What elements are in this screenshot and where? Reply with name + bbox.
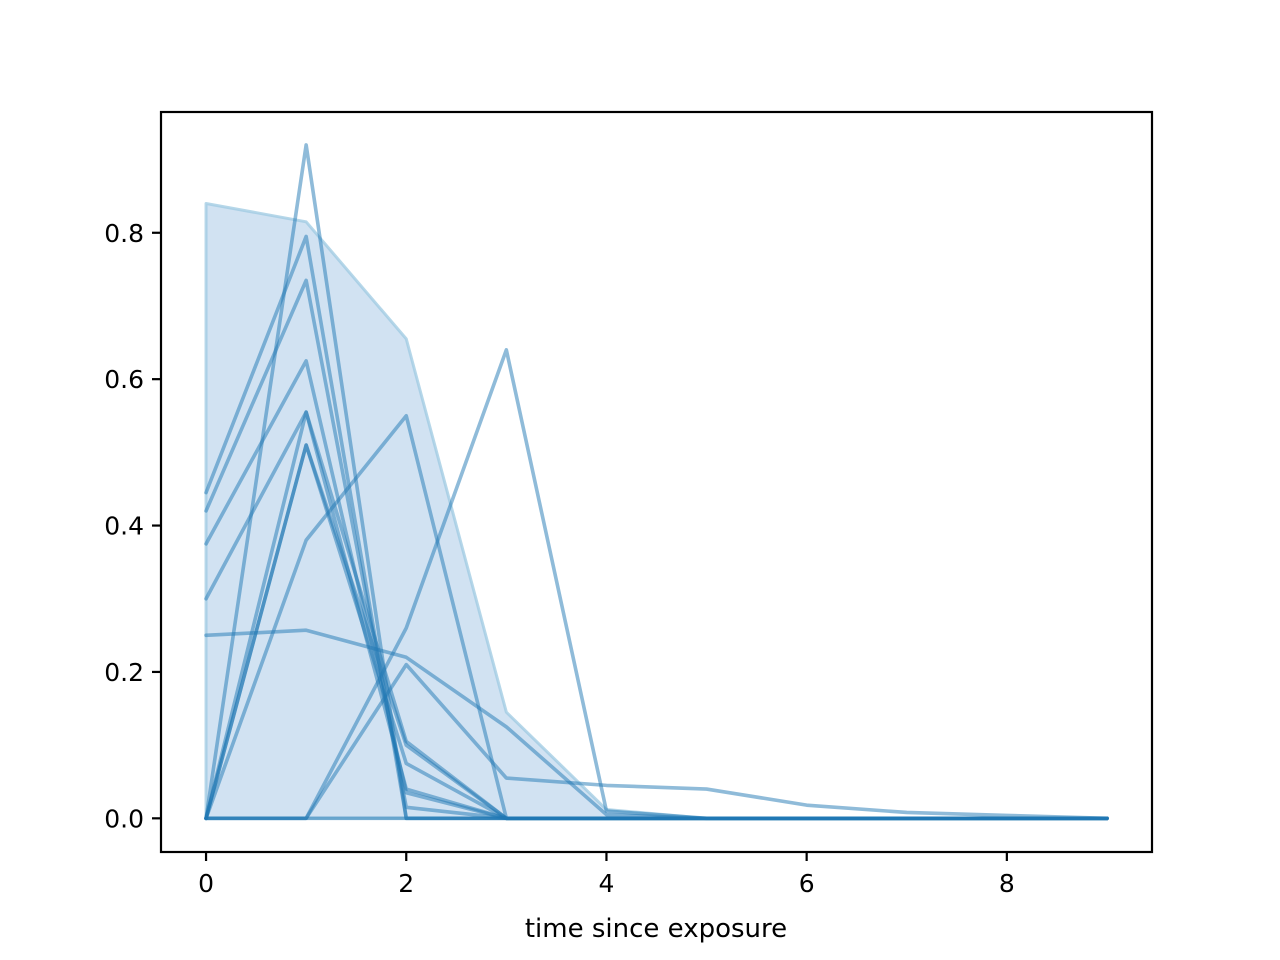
y-tick-label: 0.4	[104, 512, 144, 541]
y-tick-label: 0.2	[104, 658, 144, 687]
x-tick-label: 2	[398, 869, 414, 898]
x-tick-label: 0	[198, 869, 214, 898]
line-chart: 02468 0.00.20.40.60.8 time since exposur…	[0, 0, 1280, 960]
x-tick-label: 8	[999, 869, 1015, 898]
x-axis-label: time since exposure	[525, 914, 787, 944]
y-tick-label: 0.6	[104, 365, 144, 394]
y-tick-label: 0.0	[104, 804, 144, 833]
x-tick-label: 6	[799, 869, 815, 898]
figure-canvas: 02468 0.00.20.40.60.8 time since exposur…	[0, 0, 1280, 960]
y-tick-label: 0.8	[104, 219, 144, 248]
x-tick-label: 4	[598, 869, 614, 898]
